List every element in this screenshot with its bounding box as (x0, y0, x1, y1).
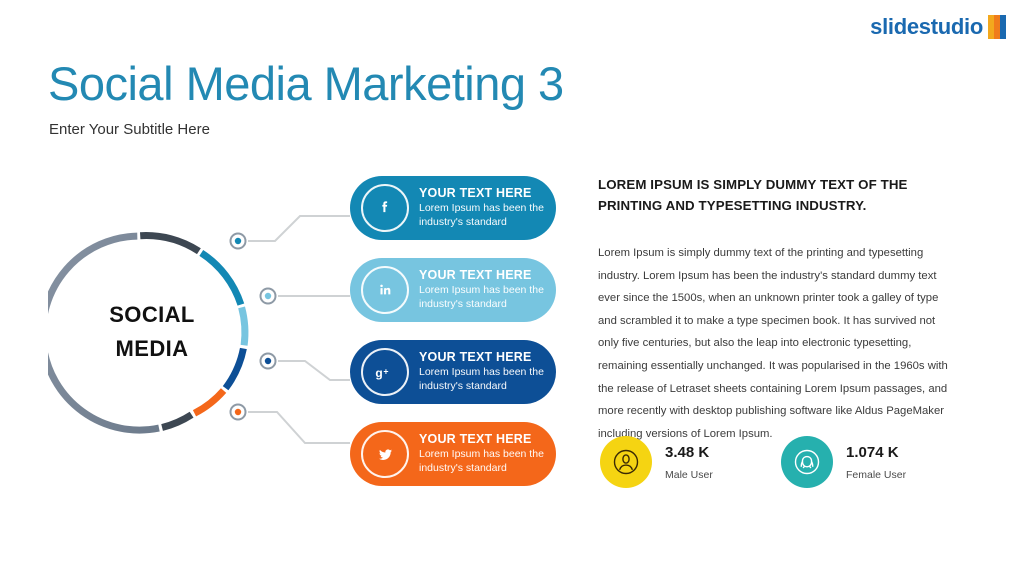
donut-center-label: SOCIAL MEDIA (48, 228, 256, 436)
card-heading: YOUR TEXT HERE (419, 432, 556, 448)
female-user-icon (781, 436, 833, 488)
card-description: Lorem Ipsum has been the industry's stan… (419, 202, 556, 230)
card-description: Lorem Ipsum has been the industry's stan… (419, 448, 556, 476)
twitter-icon (361, 430, 409, 478)
donut-center-line2: MEDIA (116, 336, 189, 362)
social-card-linkedin[interactable]: YOUR TEXT HERE Lorem Ipsum has been the … (350, 258, 556, 322)
stat-male-user: 3.48 K Male User (600, 436, 713, 488)
brand-logo-mark-icon (988, 15, 1006, 39)
card-heading: YOUR TEXT HERE (419, 186, 556, 202)
stat-label: Male User (665, 469, 713, 481)
stat-value: 3.48 K (665, 444, 713, 462)
page-title: Social Media Marketing 3 (48, 58, 564, 110)
card-heading: YOUR TEXT HERE (419, 350, 556, 366)
social-card-twitter[interactable]: YOUR TEXT HERE Lorem Ipsum has been the … (350, 422, 556, 486)
connector-dot-2 (261, 289, 276, 304)
content-body: Lorem Ipsum is simply dummy text of the … (598, 242, 958, 445)
page-subtitle: Enter Your Subtitle Here (49, 121, 210, 138)
social-media-donut: SOCIAL MEDIA (48, 228, 256, 436)
svg-text:+: + (383, 366, 388, 376)
stat-female-user: 1.074 K Female User (781, 436, 906, 488)
social-card-googleplus[interactable]: g + YOUR TEXT HERE Lorem Ipsum has been … (350, 340, 556, 404)
stat-label: Female User (846, 469, 906, 481)
connector-line-4 (248, 412, 350, 443)
facebook-icon (361, 184, 409, 232)
connector-dot-3 (261, 354, 276, 369)
card-heading: YOUR TEXT HERE (419, 268, 556, 284)
social-card-facebook[interactable]: YOUR TEXT HERE Lorem Ipsum has been the … (350, 176, 556, 240)
card-description: Lorem Ipsum has been the industry's stan… (419, 366, 556, 394)
connector-line-1 (248, 216, 350, 241)
linkedin-icon (361, 266, 409, 314)
brand-logo: slidestudio (870, 14, 1006, 40)
connector-line-3 (278, 361, 350, 380)
content-heading: LOREM IPSUM IS SIMPLY DUMMY TEXT OF THE … (598, 175, 948, 216)
card-description: Lorem Ipsum has been the industry's stan… (419, 284, 556, 312)
male-user-icon (600, 436, 652, 488)
brand-logo-text: slidestudio (870, 14, 983, 40)
svg-text:g: g (375, 366, 382, 380)
stat-value: 1.074 K (846, 444, 906, 462)
googleplus-icon: g + (361, 348, 409, 396)
donut-center-line1: SOCIAL (109, 302, 195, 328)
